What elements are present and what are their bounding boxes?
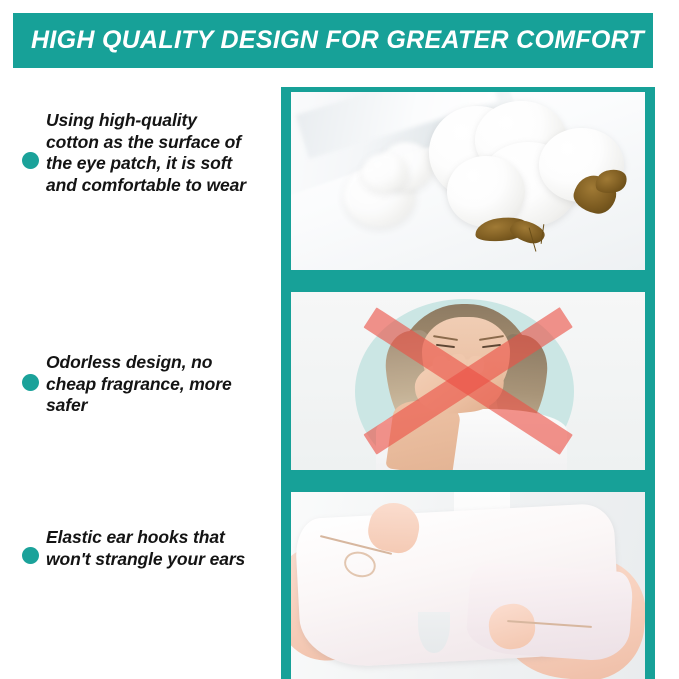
list-item: Elastic ear hooks that won't strangle yo… xyxy=(0,527,272,570)
bullet-dot-icon xyxy=(22,374,39,391)
bullet-dot-icon xyxy=(22,547,39,564)
list-item: Using high-quality cotton as the surface… xyxy=(0,110,272,196)
mask-sheet-right-flap xyxy=(465,561,634,662)
feature-text: Elastic ear hooks that won't strangle yo… xyxy=(46,527,254,570)
feature-text: Using high-quality cotton as the surface… xyxy=(46,110,254,196)
bullet-dot-icon xyxy=(22,152,39,169)
cotton-bolls-photo xyxy=(291,92,645,270)
red-x-overlay-icon xyxy=(291,292,645,470)
list-item: Odorless design, no cheap fragrance, mor… xyxy=(0,352,272,417)
page-title: HIGH QUALITY DESIGN FOR GREATER COMFORT xyxy=(31,26,644,55)
cotton-boll xyxy=(362,153,408,192)
photo-frame xyxy=(281,87,655,679)
infographic-page: HIGH QUALITY DESIGN FOR GREATER COMFORT … xyxy=(0,0,679,679)
hands-holding-mask-sheet-photo xyxy=(291,492,645,679)
woman-pinching-nose-crossed-out-photo xyxy=(291,292,645,470)
feature-text: Odorless design, no cheap fragrance, mor… xyxy=(46,352,254,417)
header-banner: HIGH QUALITY DESIGN FOR GREATER COMFORT xyxy=(13,13,653,68)
feature-list: Using high-quality cotton as the surface… xyxy=(0,80,272,679)
cotton-boll xyxy=(447,156,525,227)
